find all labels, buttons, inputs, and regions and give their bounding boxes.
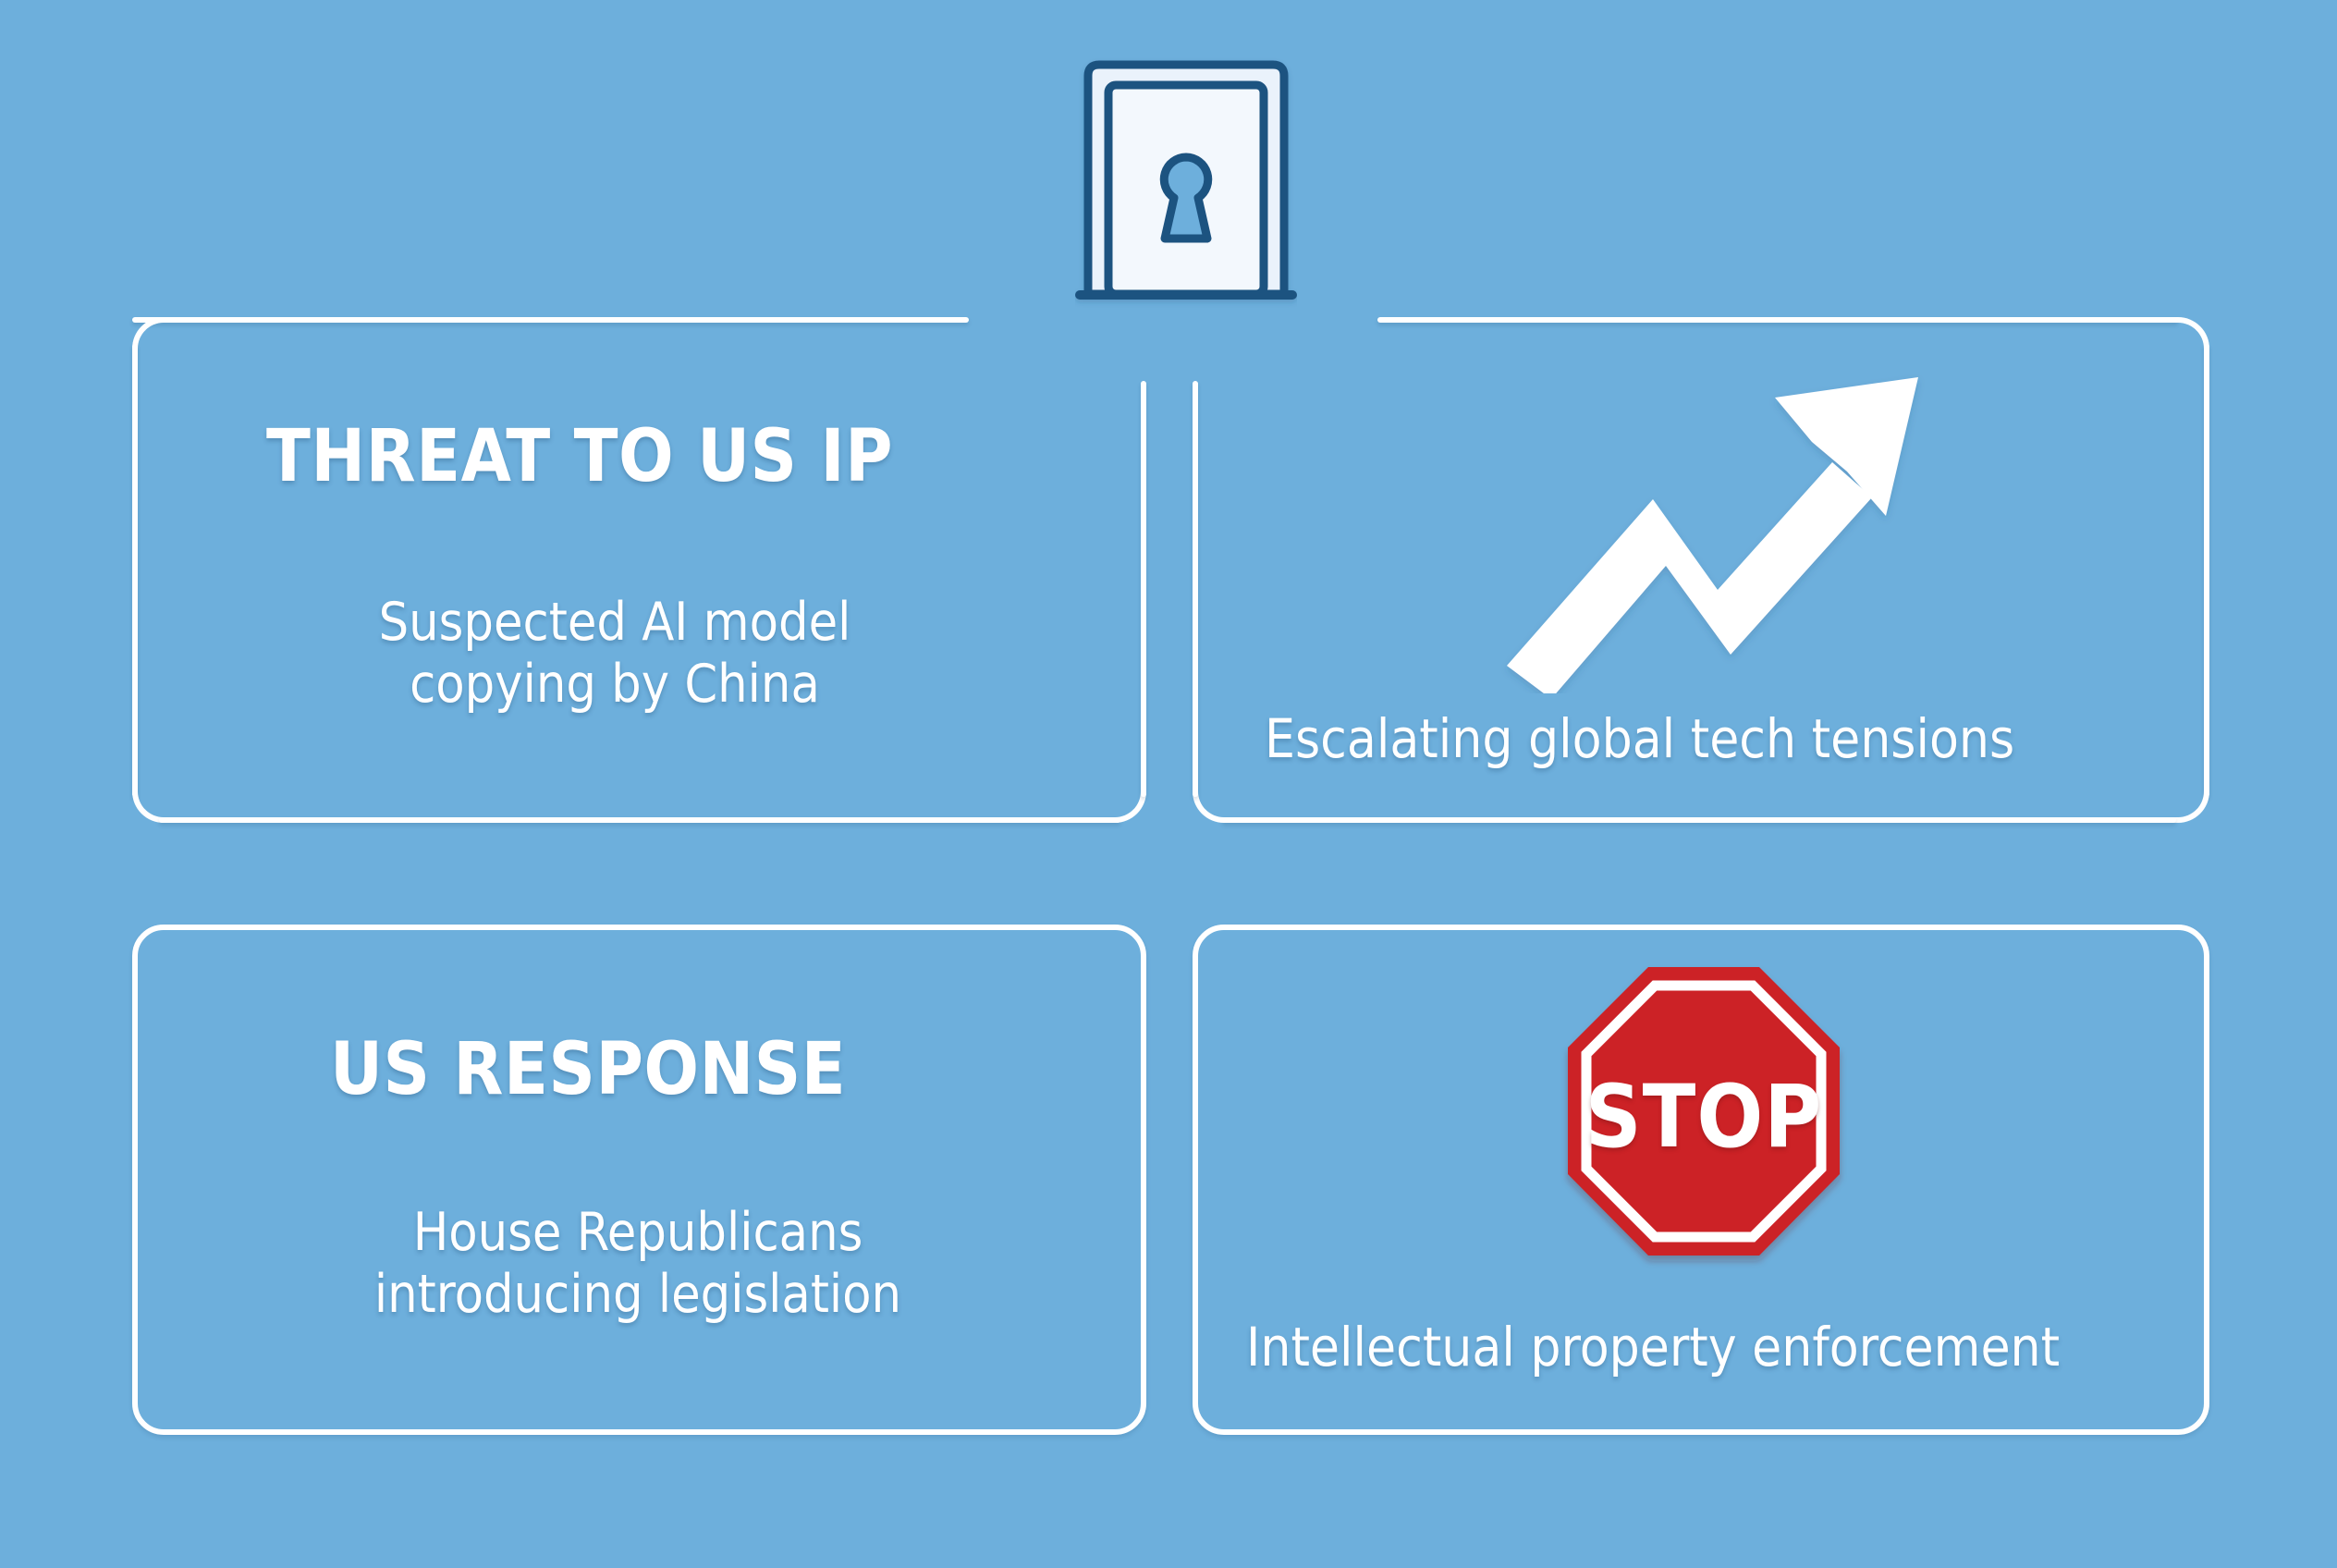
panel-threat-body-line-1: Suspected AI model — [199, 592, 1031, 654]
panel-threat-corner-tl — [132, 317, 169, 354]
panel-threat-heading: THREAT TO US IP — [266, 421, 893, 493]
panel-tensions-top-edge — [1377, 317, 2178, 323]
panel-threat-left-edge — [132, 344, 138, 797]
panel-threat-body: Suspected AI model copying by China — [199, 592, 1031, 717]
panel-tensions-corner-bl — [1193, 786, 1230, 823]
door-with-keyhole-icon — [1075, 57, 1297, 316]
panel-threat-top-edge — [132, 317, 969, 323]
panel-response-frame — [132, 925, 1146, 1435]
panel-tensions-right-edge — [2204, 344, 2209, 797]
panel-enforcement-caption: Intellectual property enforcement — [1246, 1320, 2060, 1374]
upward-trend-arrow-icon — [1498, 361, 1941, 693]
panel-tensions-bottom-edge — [1222, 817, 2176, 823]
infographic-canvas: THREAT TO US IP Suspected AI model copyi… — [0, 0, 2337, 1568]
panel-response-body: House Republicans introducing legislatio… — [199, 1202, 1077, 1327]
stop-sign-icon: STOP — [1560, 960, 1847, 1274]
panel-threat-body-line-2: copying by China — [199, 654, 1031, 716]
panel-threat-right-edge — [1141, 381, 1146, 797]
panel-tensions-corner-br — [2172, 786, 2209, 823]
panel-threat-bottom-edge — [159, 817, 1120, 823]
panel-tensions-left-edge — [1193, 381, 1198, 797]
panel-response-heading: US RESPONSE — [330, 1034, 846, 1106]
panel-response-body-line-1: House Republicans — [199, 1202, 1077, 1264]
panel-tensions-caption: Escalating global tech tensions — [1265, 712, 2014, 766]
panel-response-body-line-2: introducing legislation — [199, 1264, 1077, 1326]
